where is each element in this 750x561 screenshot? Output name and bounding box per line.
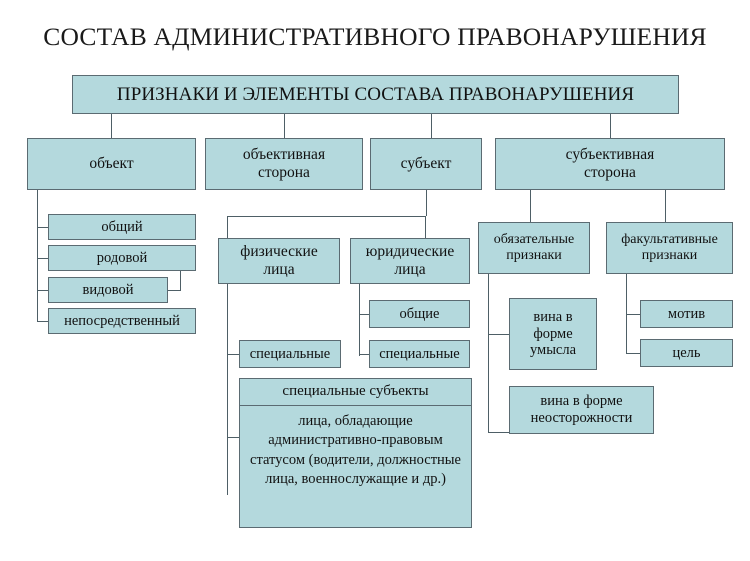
diagram-canvas: СОСТАВ АДМИНИСТРАТИВНОГО ПРАВОНАРУШЕНИЯ … (0, 0, 750, 561)
connector-subjective-to-optional (665, 190, 666, 222)
connector-header-to-subject (431, 114, 432, 138)
box-subjective-side: субъективная сторона (495, 138, 725, 190)
connector-subject-to-natural (227, 216, 228, 238)
connector-object-to-specific (37, 290, 48, 291)
box-object: объект (27, 138, 196, 190)
connector-obligatory-to-intent (488, 334, 509, 335)
special-subjects-heading: специальные субъекты (240, 379, 471, 406)
connector-subjective-to-obligatory (530, 190, 531, 222)
box-legal-persons: юридические лица (350, 238, 470, 284)
box-natural-special: специальные (239, 340, 341, 368)
connector-legal-to-general (359, 314, 369, 315)
connector-generic-to-specific-elbow-h (168, 290, 181, 291)
connector-subject-to-legal (425, 216, 426, 238)
connector-generic-to-specific-elbow-v (180, 271, 181, 290)
box-obligatory-signs: обязательные признаки (478, 222, 590, 274)
connector-natural-to-special-subjects (227, 437, 239, 438)
box-motive: мотив (640, 300, 733, 328)
connector-object-to-general (37, 227, 48, 228)
box-object-direct: непосредственный (48, 308, 196, 334)
connector-natural-to-special (227, 354, 239, 355)
box-guilt-intent: вина в форме умысла (509, 298, 597, 370)
connector-obligatory-spine (488, 274, 489, 432)
connector-optional-to-motive (626, 314, 640, 315)
header-box: ПРИЗНАКИ И ЭЛЕМЕНТЫ СОСТАВА ПРАВОНАРУШЕН… (72, 75, 679, 114)
connector-optional-to-purpose (626, 353, 640, 354)
box-object-generic: родовой (48, 245, 196, 271)
page-title: СОСТАВ АДМИНИСТРАТИВНОГО ПРАВОНАРУШЕНИЯ (0, 22, 750, 52)
box-subject: субъект (370, 138, 482, 190)
connector-header-to-subjective-side (610, 114, 611, 138)
connector-object-to-generic (37, 258, 48, 259)
box-natural-persons: физические лица (218, 238, 340, 284)
special-subjects-block: специальные субъекты лица, обладающие ад… (239, 378, 472, 528)
connector-object-spine (37, 190, 38, 322)
connector-header-to-object (111, 114, 112, 138)
box-legal-general: общие (369, 300, 470, 328)
connector-natural-persons-spine (227, 284, 228, 495)
box-objective-side: объективная сторона (205, 138, 363, 190)
box-purpose: цель (640, 339, 733, 367)
box-legal-special: специальные (369, 340, 470, 368)
box-object-specific: видовой (48, 277, 168, 303)
connector-subject-down (426, 190, 427, 216)
connector-object-to-direct (37, 321, 48, 322)
connector-obligatory-to-negligence (488, 432, 509, 433)
connector-subject-split (227, 216, 426, 217)
box-guilt-negligence: вина в форме неосторожности (509, 386, 654, 434)
connector-legal-to-special (359, 354, 369, 355)
connector-header-to-objective-side (284, 114, 285, 138)
special-subjects-body: лица, обладающие административно-правовы… (240, 406, 471, 527)
box-object-general: общий (48, 214, 196, 240)
box-optional-signs: факультативные признаки (606, 222, 733, 274)
connector-legal-persons-spine (359, 284, 360, 356)
